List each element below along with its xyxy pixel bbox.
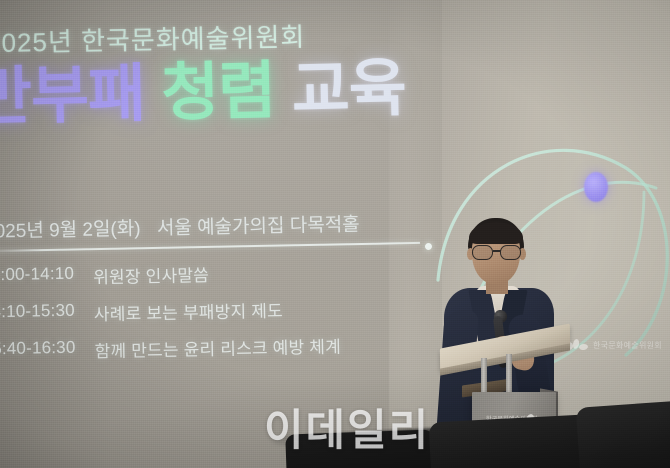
slide-title: 반부패 청렴 교육 bbox=[0, 57, 406, 129]
slide-divider-line bbox=[0, 242, 420, 252]
slide-heading: 2025년 한국문화예술위원회 bbox=[0, 17, 306, 60]
slide-title-part-2: 청렴 bbox=[161, 56, 276, 128]
agenda-item: 15:40-16:30 함께 만드는 윤리 리스크 예방 체계 bbox=[0, 333, 341, 365]
news-watermark: 이데일리 bbox=[264, 396, 430, 458]
speaker-glasses-icon bbox=[470, 245, 524, 261]
agenda-description: 위원장 인사말씀 bbox=[93, 261, 209, 288]
slide-agenda-list: 14:00-14:10 위원장 인사말씀 14:10-15:30 사례로 보는 … bbox=[0, 259, 341, 377]
conference-photo: 2025년 한국문화예술위원회 반부패 청렴 교육 2025년 9월 2일(화)… bbox=[0, 0, 670, 468]
slide-title-part-3: 교육 bbox=[291, 53, 406, 125]
agenda-item: 14:00-14:10 위원장 인사말씀 bbox=[0, 259, 340, 291]
agenda-item: 14:10-15:30 사례로 보는 부패방지 제도 bbox=[0, 296, 340, 328]
foreground-chair bbox=[576, 400, 670, 468]
agenda-time: 15:40-16:30 bbox=[0, 337, 95, 364]
agenda-time: 14:00-14:10 bbox=[0, 263, 93, 290]
agenda-time: 14:10-15:30 bbox=[0, 300, 94, 327]
slide-venue: 서울 예술가의집 다목적홀 bbox=[157, 214, 360, 239]
slide-date-venue: 2025년 9월 2일(화) 서울 예술가의집 다목적홀 bbox=[0, 209, 360, 243]
orbit-accent-dot-icon bbox=[584, 172, 608, 202]
slide-date: 2025년 9월 2일(화) bbox=[0, 219, 141, 243]
wall-logo-label: 한국문화예술위원회 bbox=[593, 340, 662, 351]
slide-title-part-1: 반부패 bbox=[0, 59, 146, 133]
agenda-description: 사례로 보는 부패방지 제도 bbox=[94, 297, 283, 326]
agenda-description: 함께 만드는 윤리 리스크 예방 체계 bbox=[94, 333, 341, 363]
